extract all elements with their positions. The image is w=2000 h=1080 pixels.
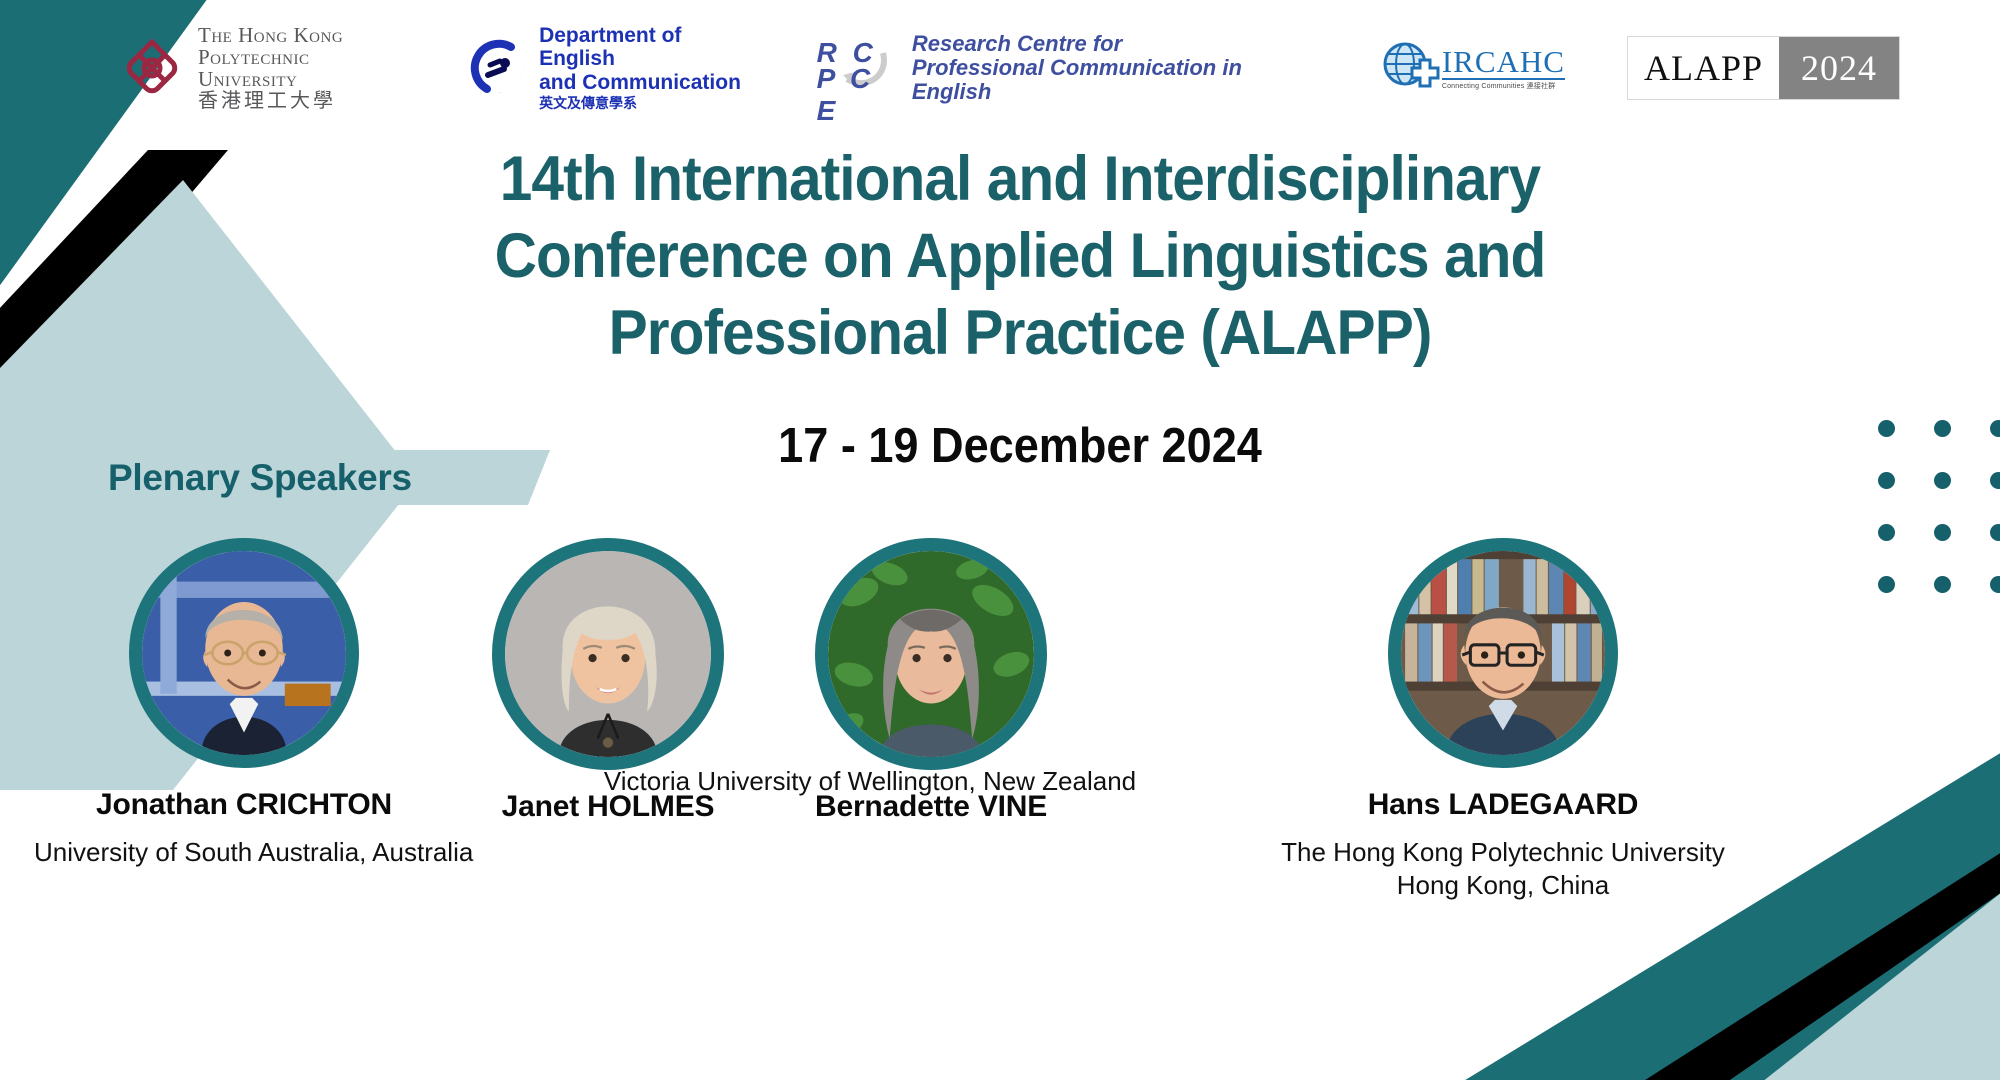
alapp-badge-right: 2024 [1779,37,1899,99]
ircahc-tagline: Connecting Communities 連接社群 [1442,83,1565,90]
title-line-3: Professional Practice (ALAPP) [406,302,1634,365]
polyu-logo: The Hong Kong Polytechnic University 香港理… [120,24,412,112]
portrait-bernadette-vine [828,551,1034,757]
alapp-badge-year: 2024 [1801,47,1877,89]
speaker-card-jonathan-crichton: Jonathan CRICHTON University of South Au… [34,538,454,869]
speaker-affiliation-line1: The Hong Kong Polytechnic University [1108,836,1898,869]
decor-dot [1934,420,1951,437]
conference-title: 14th International and Interdisciplinary… [406,148,1634,379]
decor-dot [1934,472,1951,489]
rcpce-mark-bottom: P C E [817,63,902,127]
rcpce-logo: R C P C E Research Centre for Profession… [817,32,1324,105]
polyu-line2: Polytechnic University [198,46,412,90]
speakers-section: Jonathan CRICHTON University of South Au… [0,538,2000,958]
polyu-knot-icon [120,36,184,100]
rcpce-line2: Professional Communication in English [912,56,1324,104]
ircahc-wordmark: IRCAHC Connecting Communities 連接社群 [1442,46,1565,90]
plenary-speakers-banner: Plenary Speakers [42,450,550,505]
dept-wordmark: Department of English and Communication … [539,24,761,112]
decor-dot [1878,472,1895,489]
dept-line2: and Communication [539,71,761,95]
avatar [492,538,724,770]
alapp-badge-acronym: ALAPP [1644,47,1763,89]
avatar [815,538,1047,770]
dept-circle-figure-icon [470,39,528,97]
speaker-name: Hans LADEGAARD [1108,788,1898,822]
conference-dates: 17 - 19 December 2024 [413,418,1627,474]
ircahc-logo: IRCAHC Connecting Communities 連接社群 [1378,40,1565,96]
alapp-badge-left: ALAPP [1628,37,1779,99]
plenary-speakers-label: Plenary Speakers [108,457,412,499]
speaker-name: Jonathan CRICHTON [34,788,454,822]
portrait-jonathan-crichton [142,551,346,755]
speaker-affiliation: University of South Australia, Australia [34,836,454,869]
logo-bar: The Hong Kong Polytechnic University 香港理… [120,28,1900,108]
dept-chinese: 英文及傳意學系 [539,96,761,112]
polyu-chinese: 香港理工大學 [198,91,412,112]
decor-dot [1878,420,1895,437]
polyu-line1: The Hong Kong [198,24,412,46]
ircahc-globe-cross-icon [1378,40,1440,96]
conference-poster: The Hong Kong Polytechnic University 香港理… [0,0,2000,1080]
portrait-janet-holmes [505,551,711,757]
rcpce-line1: Research Centre for [912,32,1324,56]
avatar [1388,538,1618,768]
speaker-card-hans-ladegaard: Hans LADEGAARD The Hong Kong Polytechnic… [1108,538,1898,903]
title-line-2: Conference on Applied Linguistics and [406,225,1634,288]
ircahc-acronym: IRCAHC [1442,46,1565,80]
alapp-2024-badge: ALAPP 2024 [1627,36,1900,100]
dept-line1: Department of English [539,24,761,71]
avatar [129,538,359,768]
decor-dot [1990,420,2000,437]
rcpce-wordmark: Research Centre for Professional Communi… [912,32,1324,105]
polyu-wordmark: The Hong Kong Polytechnic University 香港理… [198,24,412,112]
speaker-affiliation: The Hong Kong Polytechnic University Hon… [1108,836,1898,903]
speaker-affiliation-line2: Hong Kong, China [1108,869,1898,902]
title-line-1: 14th International and Interdisciplinary [406,148,1634,211]
rcpce-monogram-icon: R C P C E [817,39,902,97]
decor-dot [1990,472,2000,489]
portrait-hans-ladegaard [1401,551,1605,755]
department-of-english-and-communication-logo: Department of English and Communication … [470,24,761,112]
